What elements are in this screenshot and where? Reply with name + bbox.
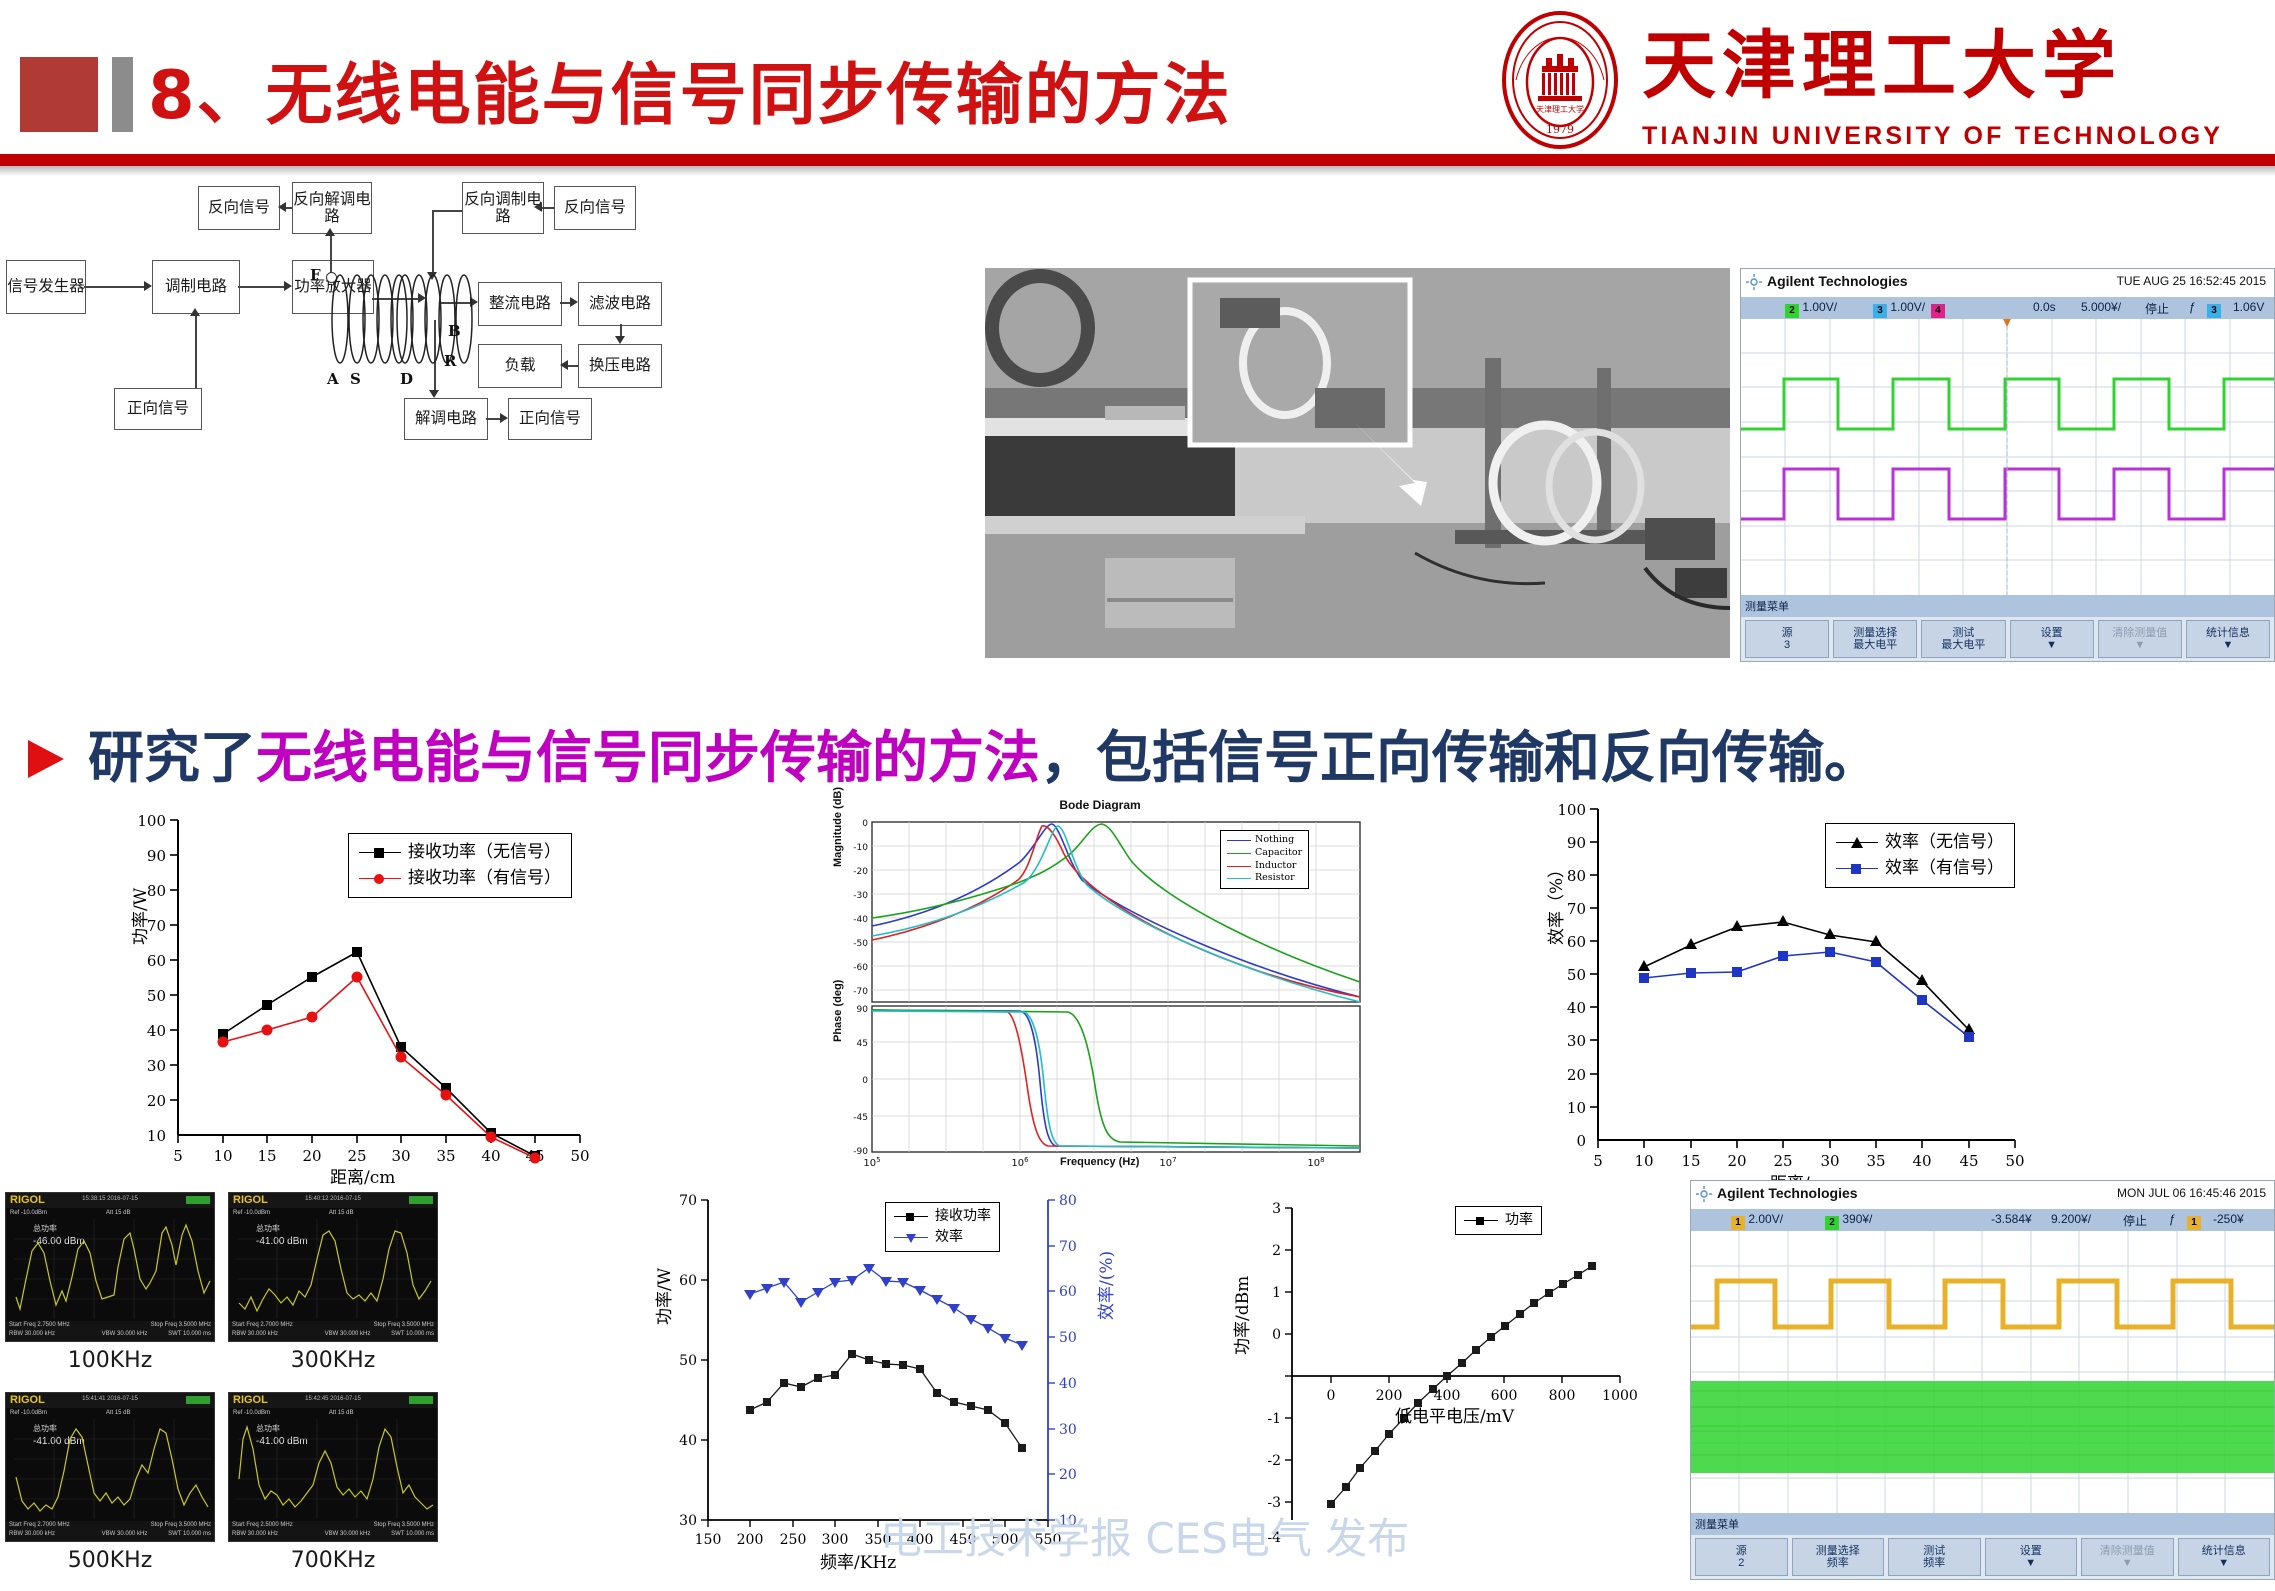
coil-label-b: B [448,322,461,340]
spectrum-caption-100khz: 100KHz [5,1348,215,1373]
system-block-diagram: 信号发生器 调制电路 正向信号 功率放大器 反向信号 反向解调电路 反向调制电路… [0,180,660,450]
legend-swatch-line [1836,868,1878,869]
title-accent-bar [112,57,133,132]
svg-text:40: 40 [147,1022,166,1040]
svg-text:-40: -40 [853,915,868,925]
rigol-footer: Start Freq 2.7000 MHz Stop Freq 3.5000 M… [6,1521,214,1541]
coil-label-a: A [327,370,339,388]
svg-text:90: 90 [147,847,166,865]
chart2-legend-item-0: Nothing [1227,834,1302,847]
rigol-attenuation: Att 15 dB [329,1210,354,1216]
spectrum-caption-500khz: 500KHz [5,1548,215,1573]
chart-efficiency-vs-distance: 1009080 706050 403020 100 51015 202530 3… [1520,795,2080,1190]
legend-swatch-line [894,1216,928,1217]
svg-text:45: 45 [857,1039,868,1049]
svg-text:30: 30 [679,1513,697,1529]
legend-marker-triangle-down [906,1234,916,1243]
chart4-y2-axis-label: 效率/(%) [1092,1251,1117,1320]
block-voltage-converter: 换压电路 [578,344,662,388]
svg-text:-1: -1 [1267,1411,1281,1427]
svg-text:45: 45 [1959,1152,1978,1170]
svg-text:200: 200 [737,1532,764,1548]
scope2-datetime: MON JUL 06 16:45:46 2015 [2117,1186,2266,1200]
svg-text:10: 10 [1567,1099,1586,1117]
svg-text:-60: -60 [853,963,868,973]
chart3-legend: 效率（无信号） 效率（有信号） [1825,823,2015,888]
chart1-legend-item-1: 接收功率（有信号） [359,866,561,892]
chart1-legend-item-0: 接收功率（无信号） [359,840,561,866]
scope1-btn-measure-select[interactable]: 测量选择 最大电平 [1833,620,1917,658]
rigol-ref-level: Ref -10.0dBm [233,1210,270,1216]
rigol-brand: RIGOL [10,1194,45,1206]
svg-text:0: 0 [1272,1327,1281,1343]
svg-text:30: 30 [1059,1422,1077,1438]
rigol-datetime: 15:38:15 2016-07-15 [82,1196,138,1202]
svg-text:250: 250 [780,1532,807,1548]
block-reverse-signal-out: 反向信号 [198,186,280,230]
rigol-brand: RIGOL [233,1394,268,1406]
svg-text:5: 5 [1593,1152,1603,1170]
svg-text:60: 60 [1059,1284,1077,1300]
brightness-icon [1696,1186,1712,1202]
chart4-legend-item-0: 接收功率 [894,1206,991,1227]
chart1-x-axis-label: 距离/cm [330,1163,395,1188]
legend-swatch-line [1227,878,1251,879]
svg-text:108: 108 [1307,1156,1324,1169]
scope2-btn-settings[interactable]: 设置 ▼ [1985,1538,2078,1576]
chart2-title: Bode Diagram [820,798,1380,812]
rigol-stop-freq: Stop Freq 3.5000 MHz [374,1522,434,1528]
svg-text:10: 10 [1634,1152,1653,1170]
watermark-text: 电工技术学报 CES电气 发布 [880,1505,1409,1566]
rigol-rbw: RBW 30.000 kHz [9,1531,55,1537]
svg-text:10: 10 [213,1147,232,1165]
svg-text:50: 50 [1059,1330,1077,1346]
svg-text:106: 106 [1011,1156,1029,1169]
svg-text:-70: -70 [853,987,868,997]
headline-suffix: ，包括信号正向传输和反向传输。 [1040,726,1880,791]
scope2-ch1-badge: 1 [1731,1216,1745,1230]
rigol-footer: Start Freq 2.7000 MHz Stop Freq 3.5000 M… [229,1321,437,1341]
brightness-icon [1746,274,1762,290]
rigol-vbw: VBW 30.000 kHz [325,1331,371,1337]
svg-text:60: 60 [1567,933,1586,951]
svg-text:30: 30 [1567,1032,1586,1050]
legend-marker-square [1851,864,1861,874]
headline-emphasis: 无线电能与信号同步传输的方法 [256,726,1040,791]
svg-text:40: 40 [1912,1152,1931,1170]
scope2-btn-measure-select[interactable]: 测量选择 频率 [1792,1538,1885,1576]
scope1-ch3-scale: 1.00V/ [1890,300,1925,314]
svg-text:60: 60 [147,952,166,970]
rigol-vbw: VBW 30.000 kHz [102,1331,148,1337]
rigol-datetime: 15:42:45 2016-07-15 [305,1396,361,1402]
scope2-params-bar: 1 2.00V/ 2 390¥/ -3.584¥ 9.200¥/ 停止 ƒ 1 … [1691,1209,2274,1231]
svg-text:107: 107 [1159,1156,1176,1169]
chart2-mag-axis-label: Magnitude (dB) [832,787,844,867]
svg-text:1979: 1979 [1546,123,1574,136]
rigol-ref-level: Ref -10.0dBm [10,1410,47,1416]
scope1-btn-settings[interactable]: 设置 ▼ [2010,620,2094,658]
chart5-legend: 功率 [1455,1206,1542,1235]
svg-text:0: 0 [1327,1388,1336,1404]
rigol-datetime: 15:41:41 2016-07-15 [82,1396,138,1402]
battery-icon [409,1196,433,1204]
coil-label-f: F [310,266,321,284]
rigol-swt: SWT 10.000 ms [168,1331,211,1337]
chart2-phase-axis-label: Phase (deg) [832,980,844,1042]
svg-text:100: 100 [1557,801,1586,819]
svg-text:35: 35 [436,1147,455,1165]
chart2-legend-item-2: Inductor [1227,860,1302,873]
legend-swatch-line [1227,853,1251,854]
rigol-start-freq: Start Freq 2.7500 MHz [9,1322,70,1328]
battery-icon [409,1396,433,1404]
chart5-legend-item-0: 功率 [1464,1210,1533,1231]
rigol-header: RIGOL 15:40:12 2016-07-15 [229,1193,437,1208]
scope1-titlebar: Agilent Technologies TUE AUG 25 16:52:45… [1741,269,2274,297]
headline-row: 研究了无线电能与信号同步传输的方法，包括信号正向传输和反向传输。 [0,718,2275,800]
university-name-en: TIANJIN UNIVERSITY OF TECHNOLOGY [1642,122,2262,151]
rigol-datetime: 15:40:12 2016-07-15 [305,1196,361,1202]
block-rectifier-circuit: 整流电路 [478,282,562,326]
battery-icon [186,1196,210,1204]
rigol-rbw: RBW 30.000 kHz [232,1331,278,1337]
chart2-legend-item-3: Resistor [1227,872,1302,885]
scope2-trigger-level: -250¥ [2213,1212,2244,1226]
scope2-run-state: 停止 [2123,1212,2147,1229]
svg-text:-30: -30 [853,891,868,901]
scope2-btn-test[interactable]: 测试 频率 [1888,1538,1981,1576]
scope1-waveform-area [1741,319,2274,595]
svg-text:0: 0 [862,819,868,829]
page-title: 8、无线电能与信号同步传输的方法 [148,48,1008,143]
oscilloscope-panel-1: Agilent Technologies TUE AUG 25 16:52:45… [1740,268,2275,662]
svg-text:10: 10 [147,1127,166,1145]
scope1-timebase: 5.000¥/ [2081,300,2121,314]
svg-text:2: 2 [1272,1243,1281,1259]
svg-text:3: 3 [1272,1201,1281,1217]
svg-text:35: 35 [1866,1152,1885,1170]
scope1-datetime: TUE AUG 25 16:52:45 2015 [2117,274,2266,288]
legend-marker-square [906,1213,914,1221]
block-reverse-demod-circuit: 反向解调电路 [292,182,372,234]
chart3-y-axis-label: 效率（%） [1542,861,1567,945]
legend-marker-square [1476,1217,1484,1225]
svg-text:-45: -45 [853,1113,868,1123]
svg-text:20: 20 [302,1147,321,1165]
rigol-brand: RIGOL [233,1194,268,1206]
headline-prefix: 研究了 [88,726,256,791]
coil-label-r: R [444,352,456,370]
rigol-header: RIGOL 15:38:15 2016-07-15 [6,1193,214,1208]
block-modulation-circuit: 调制电路 [152,260,240,314]
block-filter-circuit: 滤波电路 [578,282,662,326]
svg-text:100: 100 [137,812,166,830]
chart1-legend: 接收功率（无信号） 接收功率（有信号） [348,833,572,898]
svg-text:-90: -90 [853,1147,868,1157]
chart1-y-axis-label: 功率/W [126,888,151,945]
rigol-swt: SWT 10.000 ms [391,1531,434,1537]
svg-text:15: 15 [1681,1152,1700,1170]
scope1-button-bar[interactable]: 源 3 测量选择 最大电平 测试 最大电平 设置 ▼ 清除测量值 ▼ 统计信息 … [1741,617,2274,661]
spectrum-caption-700khz: 700KHz [228,1548,438,1573]
university-seal-icon: 天津理工大学 1979 [1490,10,1630,150]
title-accent-square [20,57,98,132]
scope2-delay: -3.584¥ [1991,1212,2032,1226]
scope2-brand: Agilent Technologies [1717,1185,1858,1201]
header-divider [0,154,2275,166]
svg-text:40: 40 [481,1147,500,1165]
scope1-trigger-badge: 3 [2207,304,2221,318]
rigol-start-freq: Start Freq 2.7000 MHz [232,1322,293,1328]
svg-text:70: 70 [679,1193,697,1209]
scope2-trigger-badge: 1 [2187,1216,2201,1230]
legend-marker-triangle [1851,837,1863,848]
scope2-btn-source[interactable]: 源 2 [1695,1538,1788,1576]
scope1-btn-source[interactable]: 源 3 [1745,620,1829,658]
legend-swatch-line [1227,840,1251,841]
legend-swatch-line [1227,866,1251,867]
svg-text:80: 80 [1567,867,1586,885]
scope2-ch1-scale: 2.00V/ [1748,1212,1783,1226]
spectrum-panel-500khz: RIGOL 15:41:41 2016-07-15 Ref -10.0dBm A… [5,1392,215,1542]
chart4-y-axis-label: 功率/W [650,1268,675,1325]
chart4-legend: 接收功率 效率 [885,1202,1000,1252]
university-logo: 天津理工大学 1979 天津理工大学 TIANJIN UNIVERSITY OF… [1490,8,2260,158]
svg-text:50: 50 [1567,966,1586,984]
chart-power-vs-distance: 1009080 706050 403020 10 51015 202530 35… [100,795,660,1190]
rigol-vbw: VBW 30.000 kHz [325,1531,371,1537]
chart3-legend-item-0: 效率（无信号） [1836,830,2004,856]
scope1-trigger-level: 1.06V [2233,300,2264,314]
block-load: 负载 [478,344,562,388]
scope1-btn-test[interactable]: 测试 最大电平 [1921,620,2005,658]
legend-swatch-line [1836,842,1878,843]
chart2-x-axis-label: Frequency (Hz) [1060,1156,1139,1168]
svg-text:90: 90 [1567,834,1586,852]
block-demod-circuit: 解调电路 [404,398,488,440]
rigol-stop-freq: Stop Freq 3.5000 MHz [374,1322,434,1328]
svg-text:50: 50 [679,1353,697,1369]
scope1-params-bar: 2 1.00V/ 3 1.00V/ 4 0.0s 5.000¥/ 停止 ƒ 3 … [1741,297,2274,319]
svg-text:15: 15 [257,1147,276,1165]
svg-text:50: 50 [2005,1152,2024,1170]
scope2-btn-clear-measure[interactable]: 清除测量值 ▼ [2081,1538,2174,1576]
svg-text:50: 50 [570,1147,589,1165]
svg-text:90: 90 [857,1005,869,1015]
rigol-brand: RIGOL [10,1394,45,1406]
spectrum-panel-700khz: RIGOL 15:42:45 2016-07-15 Ref -10.0dBm A… [228,1392,438,1542]
svg-text:20: 20 [1567,1066,1586,1084]
rigol-attenuation: Att 15 dB [329,1410,354,1416]
svg-text:-20: -20 [853,867,868,877]
rigol-stop-freq: Stop Freq 3.5000 MHz [151,1322,211,1328]
svg-text:40: 40 [679,1433,697,1449]
spectrum-panel-300khz: RIGOL 15:40:12 2016-07-15 Ref -10.0dBm A… [228,1192,438,1342]
chart5-y-axis-label: 功率/dBm [1228,1276,1253,1355]
scope1-menu-title: 测量菜单 [1741,595,2274,617]
chart2-legend-item-1: Capacitor [1227,847,1302,860]
legend-marker-circle [374,874,384,884]
svg-text:20: 20 [1059,1467,1077,1483]
svg-text:25: 25 [1773,1152,1792,1170]
legend-marker-square [374,848,384,858]
rigol-header: RIGOL 15:42:45 2016-07-15 [229,1393,437,1408]
svg-text:30: 30 [1820,1152,1839,1170]
svg-text:50: 50 [147,987,166,1005]
rigol-swt: SWT 10.000 ms [168,1531,211,1537]
rigol-attenuation: Att 15 dB [106,1410,131,1416]
scope1-ch4-badge: 4 [1931,304,1945,318]
svg-text:60: 60 [679,1273,697,1289]
rigol-start-freq: Start Freq 2.5000 MHz [232,1522,293,1528]
rigol-ref-level: Ref -10.0dBm [10,1210,47,1216]
rigol-attenuation: Att 15 dB [106,1210,131,1216]
scope1-run-state: 停止 [2145,300,2169,317]
svg-text:30: 30 [147,1057,166,1075]
rigol-ref-level: Ref -10.0dBm [233,1410,270,1416]
scope1-btn-clear-measure[interactable]: 清除测量值 ▼ [2098,620,2182,658]
rigol-stop-freq: Stop Freq 3.5000 MHz [151,1522,211,1528]
spectrum-caption-300khz: 300KHz [228,1348,438,1373]
block-reverse-mod-circuit: 反向调制电路 [462,182,544,234]
svg-text:-10: -10 [853,843,868,853]
svg-text:天津理工大学: 天津理工大学 [1536,104,1584,114]
svg-text:0: 0 [862,1076,868,1086]
bullet-arrow-icon [28,740,64,778]
battery-icon [186,1396,210,1404]
scope2-timebase: 9.200¥/ [2051,1212,2091,1226]
block-reverse-signal-in: 反向信号 [554,186,636,230]
header-divider-shadow [0,166,2275,176]
svg-text:80: 80 [1059,1193,1077,1209]
block-signal-generator: 信号发生器 [6,260,86,314]
chart2-legend: Nothing Capacitor Inductor Resistor [1220,830,1309,889]
scope2-button-bar[interactable]: 源 2 测量选择 频率 测试 频率 设置 ▼ 清除测量值 ▼ 统计信息 ▼ [1691,1535,2274,1579]
scope1-ch2-badge: 2 [1785,304,1799,318]
chart3-legend-item-1: 效率（有信号） [1836,856,2004,882]
rigol-rbw: RBW 30.000 kHz [9,1331,55,1337]
rigol-vbw: VBW 30.000 kHz [102,1531,148,1537]
legend-swatch-line [359,878,401,879]
rigol-start-freq: Start Freq 2.7000 MHz [9,1522,70,1528]
oscilloscope-panel-2: Agilent Technologies MON JUL 06 16:45:46… [1690,1180,2275,1580]
svg-text:70: 70 [1567,900,1586,918]
svg-text:-50: -50 [853,939,868,949]
svg-text:0: 0 [1576,1132,1586,1150]
svg-text:40: 40 [1567,999,1586,1017]
experiment-setup-photo [985,268,1730,658]
rigol-header: RIGOL 15:41:41 2016-07-15 [6,1393,214,1408]
svg-text:70: 70 [1059,1239,1077,1255]
rigol-rbw: RBW 30.000 kHz [232,1531,278,1537]
svg-text:40: 40 [1059,1376,1077,1392]
coil-label-d: D [400,370,413,388]
svg-text:20: 20 [1727,1152,1746,1170]
svg-text:5: 5 [173,1147,183,1165]
scope1-ch3-badge: 3 [1873,304,1887,318]
spectrum-panel-100khz: RIGOL 15:38:15 2016-07-15 Ref -10.0dBm A… [5,1192,215,1342]
coil-label-s: S [350,370,361,388]
rigol-footer: Start Freq 2.5000 MHz Stop Freq 3.5000 M… [229,1521,437,1541]
headline-text: 研究了无线电能与信号同步传输的方法，包括信号正向传输和反向传输。 [88,718,1880,800]
university-name-cn: 天津理工大学 [1642,16,2112,116]
rigol-swt: SWT 10.000 ms [391,1331,434,1337]
svg-text:300: 300 [822,1532,849,1548]
scope2-waveform-area [1691,1231,2274,1513]
scope2-ch2-scale: 390¥/ [1842,1212,1872,1226]
svg-text:-2: -2 [1267,1453,1281,1469]
scope2-titlebar: Agilent Technologies MON JUL 06 16:45:46… [1691,1181,2274,1209]
block-forward-signal-out: 正向信号 [508,398,592,440]
scope1-delay: 0.0s [2033,300,2056,314]
svg-text:1: 1 [1272,1285,1281,1301]
scope1-ch2-scale: 1.00V/ [1802,300,1837,314]
chart5-x-axis-label: 低电平电压/mV [1395,1402,1514,1427]
legend-swatch-line [359,852,401,853]
svg-text:1000: 1000 [1602,1388,1638,1404]
svg-text:20: 20 [147,1092,166,1110]
scope2-ch2-badge: 2 [1825,1216,1839,1230]
svg-text:150: 150 [695,1532,722,1548]
chart-bode-diagram: Bode Diagram 0-10-20 -30-40-50 -60-70 [820,792,1380,1190]
scope2-btn-statistics[interactable]: 统计信息 ▼ [2178,1538,2271,1576]
scope1-brand: Agilent Technologies [1767,273,1908,289]
legend-swatch-line [894,1237,928,1238]
svg-text:105: 105 [863,1156,880,1169]
rigol-footer: Start Freq 2.7500 MHz Stop Freq 3.5000 M… [6,1321,214,1341]
scope2-menu-title: 测量菜单 [1691,1513,2274,1535]
receiver-coil-icon [395,264,475,369]
scope1-btn-statistics[interactable]: 统计信息 ▼ [2186,620,2270,658]
legend-swatch-line [1464,1220,1498,1221]
svg-text:800: 800 [1549,1388,1576,1404]
block-forward-signal-in: 正向信号 [114,388,202,430]
chart4-legend-item-1: 效率 [894,1227,991,1248]
